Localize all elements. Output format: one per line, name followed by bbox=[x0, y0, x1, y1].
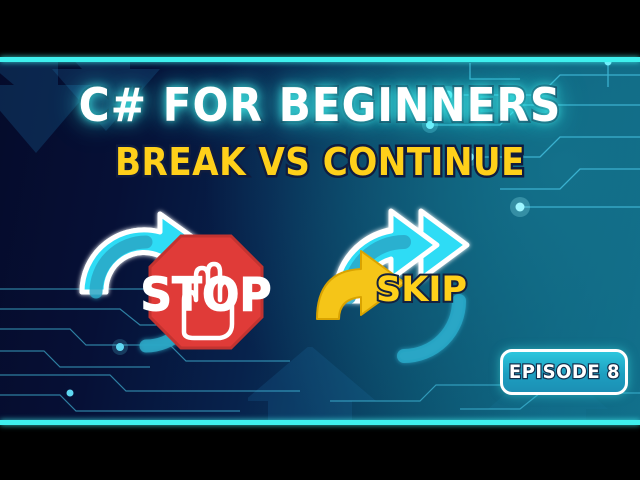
page-subtitle: BREAK VS CONTINUE bbox=[32, 143, 608, 181]
page-title: C# FOR BEGINNERS bbox=[26, 82, 615, 128]
video-thumbnail: C# FOR BEGINNERS BREAK VS CONTINUE bbox=[0, 0, 640, 480]
letterbox-bar-bottom bbox=[0, 425, 640, 480]
letterbox-bar-top bbox=[0, 0, 640, 57]
episode-badge: EPISODE 8 bbox=[500, 349, 628, 395]
accent-line-bottom bbox=[0, 420, 640, 425]
skip-label: SKIP bbox=[376, 270, 467, 310]
break-graphic: STOP bbox=[62, 200, 277, 380]
episode-badge-label: EPISODE 8 bbox=[508, 361, 619, 383]
accent-line-top bbox=[0, 57, 640, 62]
thumbnail-artwork: C# FOR BEGINNERS BREAK VS CONTINUE bbox=[0, 57, 640, 423]
